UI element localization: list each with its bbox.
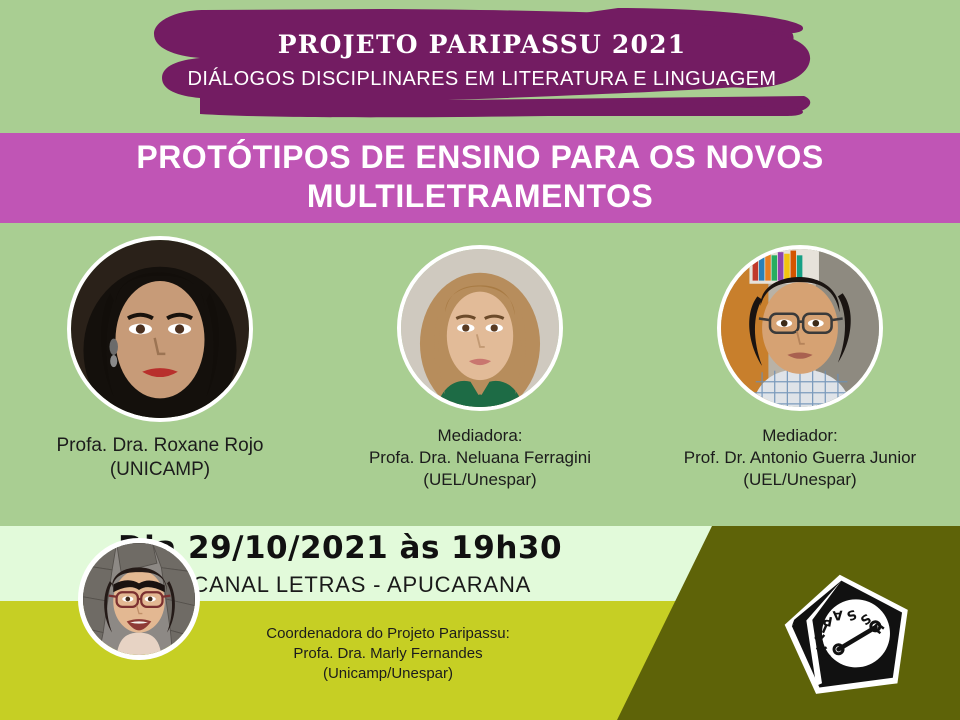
- avatar: [67, 236, 253, 422]
- avatar: [78, 538, 200, 660]
- avatar: [717, 245, 883, 411]
- speaker-caption: Profa. Dra. Roxane Rojo (UNICAMP): [57, 434, 264, 482]
- event-poster: PROJETO PARIPASSU 2021 DIÁLOGOS DISCIPLI…: [0, 0, 960, 720]
- coordinator-name: Profa. Dra. Marly Fernandes: [208, 644, 568, 664]
- avatar: [397, 245, 563, 411]
- speakers-row: Profa. Dra. Roxane Rojo (UNICAMP): [0, 236, 960, 526]
- speaker-name: Profa. Dra. Roxane Rojo: [57, 434, 264, 458]
- page-title: PROTÓTIPOS DE ENSINO PARA OS NOVOS MULTI…: [0, 138, 960, 216]
- speaker-affiliation: (UEL/Unespar): [369, 469, 591, 491]
- speaker-role: Mediador:: [684, 425, 916, 447]
- portrait-antonio-guerra-junior: [721, 249, 879, 407]
- speaker-caption: Mediadora: Profa. Dra. Neluana Ferragini…: [369, 425, 591, 491]
- portrait-marly-fernandes: [83, 543, 195, 660]
- coordinator-caption: Coordenadora do Projeto Paripassu: Profa…: [208, 624, 568, 684]
- portrait-neluana-ferragini: [401, 249, 559, 407]
- speaker-caption: Mediador: Prof. Dr. Antonio Guerra Junio…: [684, 425, 916, 491]
- speaker-card-neluana-ferragini: Mediadora: Profa. Dra. Neluana Ferragini…: [330, 236, 630, 491]
- speaker-affiliation: (UNICAMP): [57, 458, 264, 482]
- speaker-name: Profa. Dra. Neluana Ferragini: [369, 447, 591, 469]
- coordinator-affiliation: (Unicamp/Unespar): [208, 664, 568, 684]
- header-subtitle: DIÁLOGOS DISCIPLINARES EM LITERATURA E L…: [148, 68, 816, 91]
- speaker-card-antonio-guerra-junior: Mediador: Prof. Dr. Antonio Guerra Junio…: [650, 236, 950, 491]
- header-brush-stroke: PROJETO PARIPASSU 2021 DIÁLOGOS DISCIPLI…: [148, 4, 816, 120]
- page-title-line1: PROTÓTIPOS DE ENSINO PARA OS NOVOS: [136, 139, 823, 175]
- speaker-card-roxane-rojo: Profa. Dra. Roxane Rojo (UNICAMP): [10, 236, 310, 482]
- portrait-roxane-rojo: [71, 240, 249, 418]
- svg-text:A: A: [832, 607, 843, 623]
- paripassu-logo: P A R I P A S S U: [784, 572, 916, 696]
- speaker-role: Mediadora:: [369, 425, 591, 447]
- coordinator-role: Coordenadora do Projeto Paripassu:: [208, 624, 568, 644]
- page-title-line2: MULTILETRAMENTOS: [0, 177, 960, 216]
- header-title: PROJETO PARIPASSU 2021: [148, 30, 816, 59]
- speaker-affiliation: (UEL/Unespar): [684, 469, 916, 491]
- speaker-name: Prof. Dr. Antonio Guerra Junior: [684, 447, 916, 469]
